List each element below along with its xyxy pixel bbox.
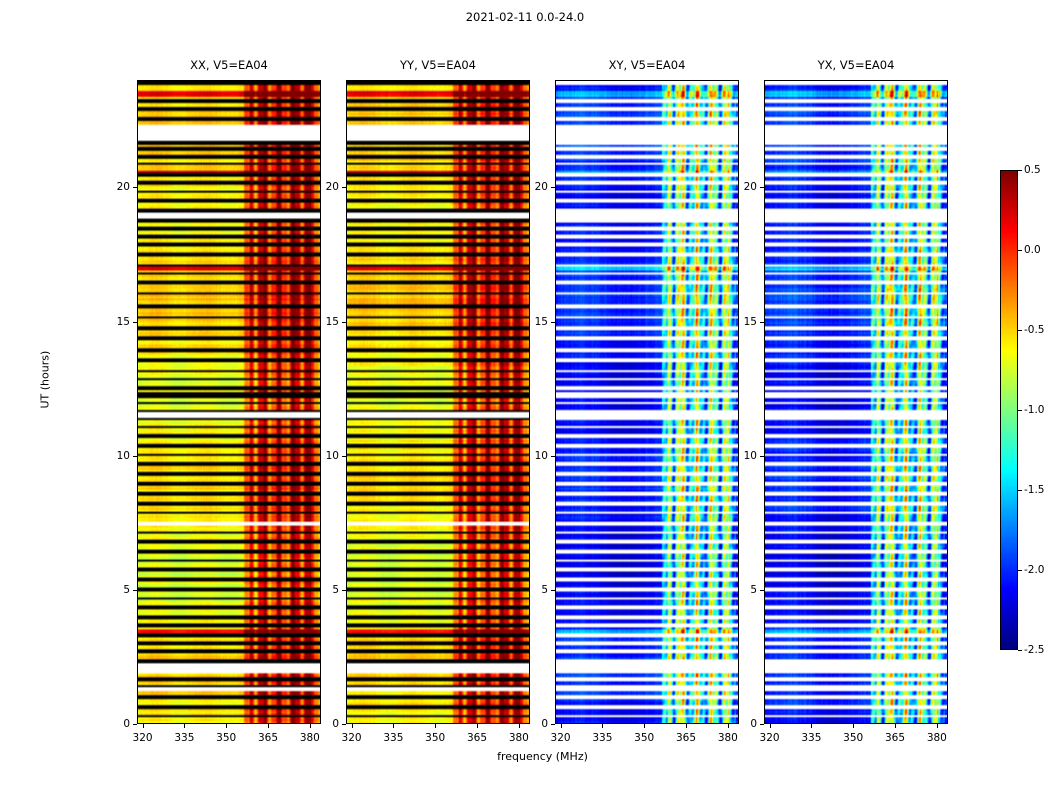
colorbar	[1000, 170, 1018, 650]
x-tick-label: 365	[676, 732, 696, 744]
colorbar-tick-mark	[1018, 490, 1022, 491]
y-tick-mark	[760, 187, 764, 188]
y-tick-label: 10	[724, 450, 757, 462]
x-tick-mark	[895, 724, 896, 728]
heatmap-panel-yx	[764, 80, 948, 724]
x-tick-label: 380	[927, 732, 947, 744]
x-tick-label: 350	[634, 732, 654, 744]
x-tick-mark	[393, 724, 394, 728]
x-tick-label: 380	[718, 732, 738, 744]
x-tick-mark	[602, 724, 603, 728]
y-tick-mark	[551, 456, 555, 457]
x-tick-label: 335	[801, 732, 821, 744]
y-tick-label: 15	[724, 316, 757, 328]
colorbar-tick-mark	[1018, 650, 1022, 651]
y-tick-mark	[133, 724, 137, 725]
y-tick-mark	[551, 590, 555, 591]
colorbar-tick-mark	[1018, 570, 1022, 571]
x-tick-mark	[811, 724, 812, 728]
x-tick-label: 365	[885, 732, 905, 744]
x-tick-label: 320	[551, 732, 571, 744]
y-tick-label: 15	[306, 316, 339, 328]
y-tick-mark	[551, 322, 555, 323]
y-tick-label: 20	[724, 181, 757, 193]
y-tick-label: 5	[515, 584, 548, 596]
y-tick-label: 15	[515, 316, 548, 328]
y-tick-mark	[760, 456, 764, 457]
y-tick-label: 10	[306, 450, 339, 462]
colorbar-tick-mark	[1018, 250, 1022, 251]
y-tick-mark	[551, 187, 555, 188]
y-tick-label: 20	[306, 181, 339, 193]
y-tick-mark	[133, 187, 137, 188]
panel-title-yx: YX, V5=EA04	[764, 58, 948, 72]
panel-title-xy: XY, V5=EA04	[555, 58, 739, 72]
x-tick-label: 335	[383, 732, 403, 744]
y-tick-mark	[342, 590, 346, 591]
y-tick-label: 5	[724, 584, 757, 596]
y-tick-label: 5	[97, 584, 130, 596]
colorbar-tick-label: -2.5	[1024, 644, 1045, 656]
y-tick-mark	[551, 724, 555, 725]
x-tick-mark	[770, 724, 771, 728]
y-tick-label: 10	[515, 450, 548, 462]
y-tick-mark	[760, 590, 764, 591]
x-tick-label: 320	[760, 732, 780, 744]
heatmap-image-xy	[556, 81, 738, 723]
x-tick-mark	[435, 724, 436, 728]
heatmap-panel-xx	[137, 80, 321, 724]
x-tick-mark	[937, 724, 938, 728]
x-tick-mark	[686, 724, 687, 728]
heatmap-image-yx	[765, 81, 947, 723]
colorbar-tick-label: -1.0	[1024, 404, 1045, 416]
heatmap-image-xx	[138, 81, 320, 723]
panel-title-xx: XX, V5=EA04	[137, 58, 321, 72]
y-tick-mark	[760, 322, 764, 323]
heatmap-panel-yy	[346, 80, 530, 724]
colorbar-tick-mark	[1018, 170, 1022, 171]
y-tick-label: 0	[515, 718, 548, 730]
y-tick-mark	[342, 456, 346, 457]
x-tick-label: 350	[425, 732, 445, 744]
y-tick-label: 10	[97, 450, 130, 462]
x-tick-mark	[268, 724, 269, 728]
x-tick-label: 365	[467, 732, 487, 744]
x-tick-label: 335	[592, 732, 612, 744]
colorbar-tick-mark	[1018, 330, 1022, 331]
colorbar-tick-label: 0.0	[1024, 244, 1041, 256]
x-tick-mark	[143, 724, 144, 728]
y-tick-label: 0	[97, 718, 130, 730]
x-tick-label: 380	[509, 732, 529, 744]
x-tick-mark	[226, 724, 227, 728]
x-tick-label: 365	[258, 732, 278, 744]
x-tick-mark	[644, 724, 645, 728]
y-tick-mark	[133, 590, 137, 591]
colorbar-tick-label: -0.5	[1024, 324, 1045, 336]
y-tick-label: 15	[97, 316, 130, 328]
y-tick-mark	[760, 724, 764, 725]
x-tick-label: 350	[843, 732, 863, 744]
x-tick-mark	[184, 724, 185, 728]
heatmap-panel-xy	[555, 80, 739, 724]
colorbar-tick-mark	[1018, 410, 1022, 411]
x-tick-mark	[352, 724, 353, 728]
x-tick-mark	[561, 724, 562, 728]
y-tick-mark	[342, 724, 346, 725]
y-tick-mark	[133, 456, 137, 457]
colorbar-tick-label: 0.5	[1024, 164, 1041, 176]
y-tick-label: 20	[97, 181, 130, 193]
y-tick-label: 5	[306, 584, 339, 596]
x-tick-label: 335	[174, 732, 194, 744]
y-tick-mark	[133, 322, 137, 323]
x-tick-label: 380	[300, 732, 320, 744]
y-tick-label: 20	[515, 181, 548, 193]
panel-title-yy: YY, V5=EA04	[346, 58, 530, 72]
colorbar-tick-label: -1.5	[1024, 484, 1045, 496]
colorbar-tick-label: -2.0	[1024, 564, 1045, 576]
y-tick-label: 0	[724, 718, 757, 730]
figure-suptitle: 2021-02-11 0.0-24.0	[0, 10, 1050, 24]
x-tick-label: 350	[216, 732, 236, 744]
y-tick-mark	[342, 322, 346, 323]
x-tick-label: 320	[133, 732, 153, 744]
x-tick-mark	[477, 724, 478, 728]
y-tick-mark	[342, 187, 346, 188]
heatmap-image-yy	[347, 81, 529, 723]
y-tick-label: 0	[306, 718, 339, 730]
x-tick-label: 320	[342, 732, 362, 744]
x-axis-label: frequency (MHz)	[137, 750, 948, 763]
x-tick-mark	[853, 724, 854, 728]
